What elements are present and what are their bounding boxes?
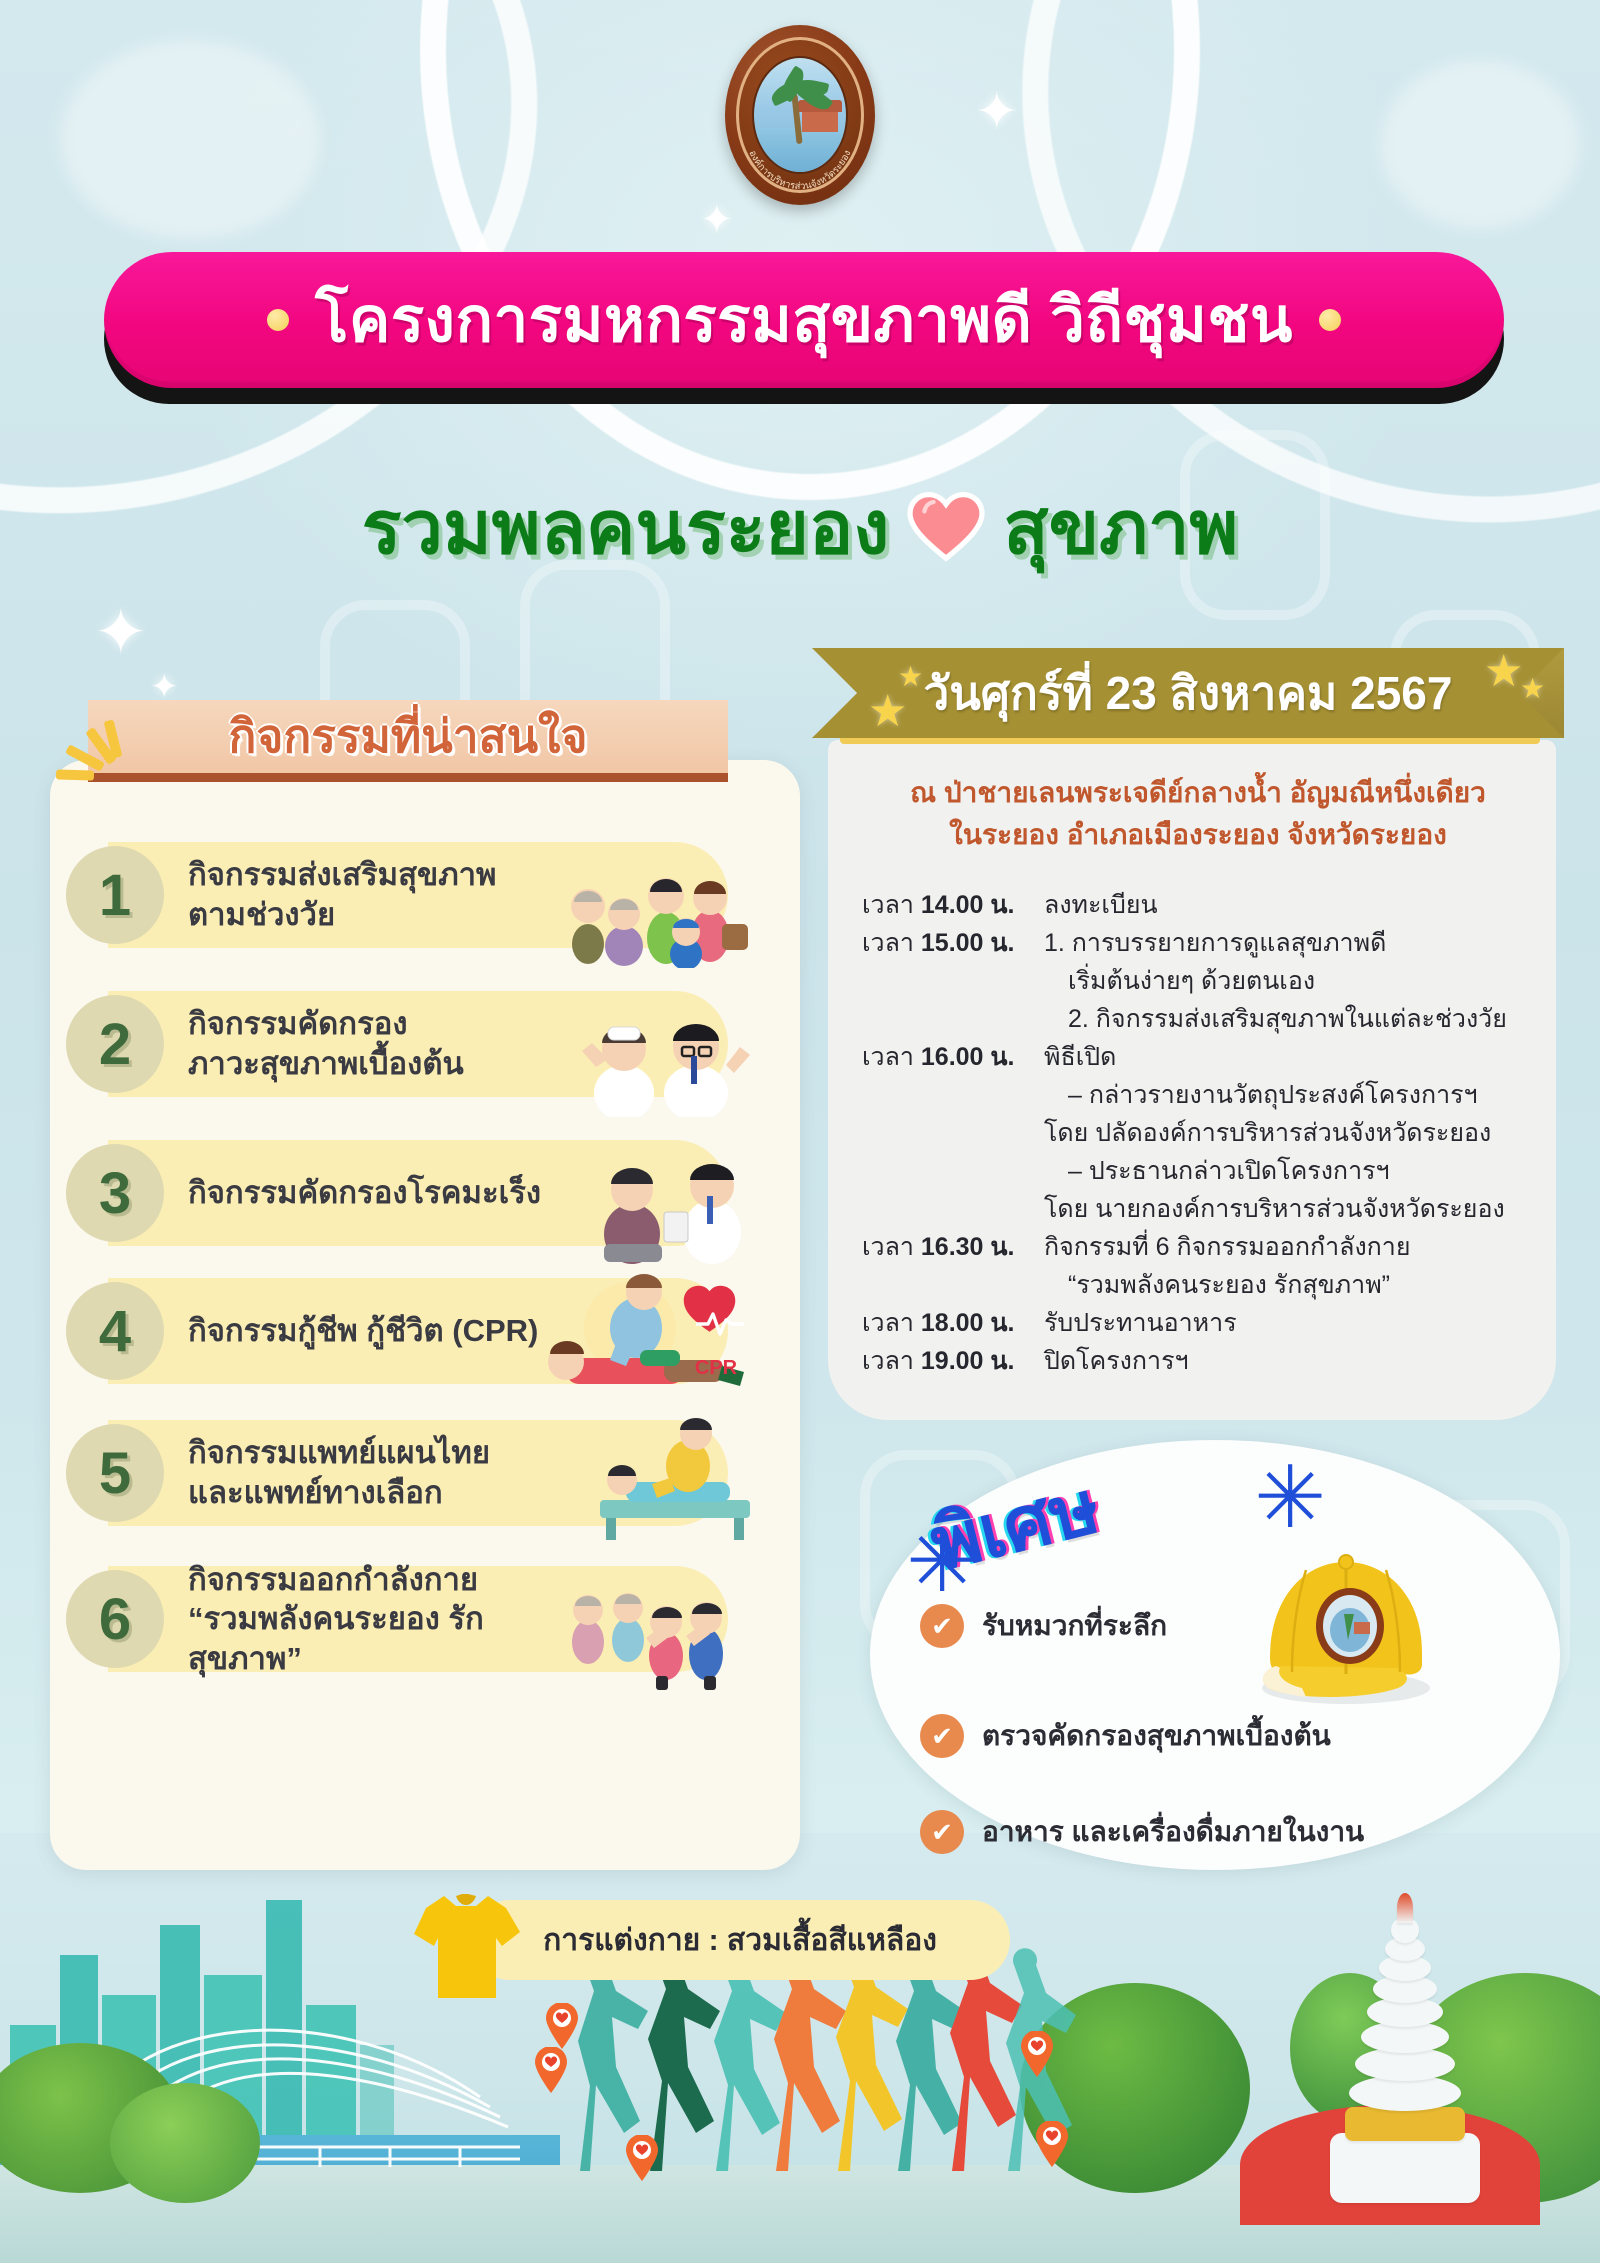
family-exercise-illustration — [544, 1542, 774, 1692]
thai-massage-illustration — [544, 1396, 774, 1546]
seal-outer-ring: องค์การบริหารส่วนจังหวัดระยอง — [725, 25, 875, 205]
six-point-star-icon: ✳ — [1254, 1448, 1326, 1548]
star-icon: ★ — [868, 686, 907, 737]
schedule-description: พิธีเปิด — [1044, 1038, 1562, 1076]
subtitle-left: รวมพลคนระยอง — [362, 468, 890, 586]
activity-label: กิจกรรมกู้ชีพ กู้ชีวิต (CPR) — [188, 1311, 538, 1351]
schedule-row: เวลา 15.00 น.1. การบรรยายการดูแลสุขภาพดี — [862, 924, 1562, 962]
subtitle-right: สุขภาพ — [1003, 468, 1238, 586]
map-pin-heart-icon — [1020, 2031, 1054, 2077]
activity-label: กิจกรรมแพทย์แผนไทยและแพทย์ทางเลือก — [188, 1433, 490, 1512]
tree — [110, 2083, 260, 2203]
activity-number-badge: 5 — [66, 1424, 164, 1522]
bg-blob-2 — [1380, 60, 1580, 230]
schedule-block: เวลา 14.00 น.ลงทะเบียนเวลา 15.00 น.1. กา… — [862, 886, 1562, 1380]
schedule-description: รับประทานอาหาร — [1044, 1304, 1562, 1342]
benefit-label: รับหมวกที่ระลึก — [982, 1604, 1167, 1648]
burst-icon — [56, 716, 146, 806]
family-group-illustration — [544, 818, 774, 968]
date-ribbon: วันศุกร์ที่ 23 สิงหาคม 2567 — [812, 648, 1564, 738]
event-date: วันศุกร์ที่ 23 สิงหาคม 2567 — [924, 657, 1453, 730]
subtitle-row: รวมพลคนระยอง สุขภาพ — [0, 468, 1600, 586]
star-icon: ★ — [898, 660, 923, 693]
star-icon: ★ — [1520, 672, 1545, 705]
check-icon: ✔ — [920, 1810, 964, 1854]
schedule-description: 1. การบรรยายการดูแลสุขภาพดี — [1044, 924, 1562, 962]
activity-label: กิจกรรมส่งเสริมสุขภาพตามช่วงวัย — [188, 855, 497, 934]
schedule-time: เวลา 14.00 น. — [862, 886, 1044, 924]
schedule-detail-line: เริ่มต้นง่ายๆ ด้วยตนเอง — [1068, 962, 1562, 1000]
check-icon: ✔ — [920, 1714, 964, 1758]
activity-item-2: 2กิจกรรมคัดกรองภาวะสุขภาพเบื้องต้น — [66, 985, 766, 1103]
bottom-illustration — [0, 1833, 1600, 2263]
heart-icon — [907, 491, 985, 563]
activity-label: กิจกรรมคัดกรองโรคมะเร็ง — [188, 1173, 541, 1213]
activity-item-5: 5กิจกรรมแพทย์แผนไทยและแพทย์ทางเลือก — [66, 1414, 766, 1532]
map-pin-heart-icon — [625, 2135, 659, 2181]
schedule-detail-line: 2. กิจกรรมส่งเสริมสุขภาพในแต่ละช่วงวัย — [1068, 1000, 1562, 1038]
map-pin-heart-icon — [545, 2003, 579, 2049]
activity-number-badge: 1 — [66, 846, 164, 944]
schedule-row: เวลา 18.00 น.รับประทานอาหาร — [862, 1304, 1562, 1342]
benefit-item: ✔อาหาร และเครื่องดื่มภายในงาน — [920, 1810, 1364, 1854]
title-dot-left — [267, 309, 289, 331]
organization-logo: องค์การบริหารส่วนจังหวัดระยอง — [722, 22, 878, 208]
svg-text:CPR: CPR — [695, 1357, 738, 1379]
benefit-item: ✔ตรวจคัดกรองสุขภาพเบื้องต้น — [920, 1714, 1331, 1758]
doctor-patient-consult-illustration — [544, 1116, 774, 1266]
main-title-banner: โครงการมหกรรมสุขภาพดี วิถีชุมชน — [104, 252, 1504, 388]
star-icon: ★ — [1484, 646, 1523, 697]
activity-item-6: 6กิจกรรมออกกำลังกาย“รวมพลังคนระยอง รักสุ… — [66, 1560, 766, 1678]
activity-number-badge: 4 — [66, 1282, 164, 1380]
map-pin-heart-icon — [1035, 2121, 1069, 2167]
pagoda-illustration — [1330, 1883, 1480, 2203]
yellow-tshirt-icon — [406, 1888, 526, 2006]
schedule-detail-line: – ประธานกล่าวเปิดโครงการฯ — [1068, 1152, 1562, 1190]
schedule-time: เวลา 15.00 น. — [862, 924, 1044, 962]
activity-item-4: 4กิจกรรมกู้ชีพ กู้ชีวิต (CPR) CPR — [66, 1272, 766, 1390]
activity-number-badge: 3 — [66, 1144, 164, 1242]
schedule-description: ปิดโครงการฯ — [1044, 1342, 1562, 1380]
sparkle-2: ✦ — [150, 670, 179, 704]
activities-header-label: กิจกรรมที่น่าสนใจ — [229, 700, 588, 773]
venue-line: ณ ป่าชายเลนพระเจดีย์กลางน้ำ อัญมณีหนึ่งเ… — [848, 772, 1548, 814]
schedule-time: เวลา 16.30 น. — [862, 1228, 1044, 1266]
schedule-time: เวลา 18.00 น. — [862, 1304, 1044, 1342]
map-pin-heart-icon — [534, 2047, 568, 2093]
seal-bottom-text: องค์การบริหารส่วนจังหวัดระยอง — [747, 149, 854, 192]
schedule-description: ลงทะเบียน — [1044, 886, 1562, 924]
bg-blob-1 — [60, 40, 320, 240]
schedule-detail-line: “รวมพลังคนระยอง รักสุขภาพ” — [1068, 1266, 1562, 1304]
schedule-detail-line: โดย ปลัดองค์การบริหารส่วนจังหวัดระยอง — [1044, 1114, 1562, 1152]
yellow-cap-souvenir-icon — [1246, 1540, 1446, 1720]
sparkle-1: ✦ — [94, 600, 148, 664]
dress-code-text: การแต่งกาย : สวมเสื้อสีแหลือง — [543, 1917, 937, 1964]
activities-header-banner: กิจกรรมที่น่าสนใจ — [88, 700, 728, 782]
svg-text:องค์การบริหารส่วนจังหวัดระยอง: องค์การบริหารส่วนจังหวัดระยอง — [747, 149, 854, 192]
activity-number-badge: 2 — [66, 995, 164, 1093]
schedule-row: เวลา 16.30 น.กิจกรรมที่ 6 กิจกรรมออกกำลั… — [862, 1228, 1562, 1266]
six-point-star-icon: ✳ — [906, 1512, 978, 1612]
poster-canvas: ✦ ✦ ✦ ✦ ✦ องค์การบริหารส่วนจังหวัดระ — [0, 0, 1600, 2263]
schedule-time: เวลา 16.00 น. — [862, 1038, 1044, 1076]
schedule-detail-line: โดย นายกองค์การบริหารส่วนจังหวัดระยอง — [1044, 1190, 1562, 1228]
activity-item-1: 1กิจกรรมส่งเสริมสุขภาพตามช่วงวัย — [66, 836, 766, 954]
activity-item-3: 3กิจกรรมคัดกรองโรคมะเร็ง — [66, 1134, 766, 1252]
seal-circular-text: องค์การบริหารส่วนจังหวัดระยอง — [725, 25, 875, 205]
venue-block: ณ ป่าชายเลนพระเจดีย์กลางน้ำ อัญมณีหนึ่งเ… — [848, 772, 1548, 856]
benefit-label: ตรวจคัดกรองสุขภาพเบื้องต้น — [982, 1714, 1331, 1758]
title-dot-right — [1319, 309, 1341, 331]
schedule-row: เวลา 19.00 น.ปิดโครงการฯ — [862, 1342, 1562, 1380]
benefit-label: อาหาร และเครื่องดื่มภายในงาน — [982, 1810, 1364, 1854]
activity-number-badge: 6 — [66, 1570, 164, 1668]
activity-label: กิจกรรมคัดกรองภาวะสุขภาพเบื้องต้น — [188, 1004, 464, 1083]
activity-label: กิจกรรมออกกำลังกาย“รวมพลังคนระยอง รักสุข… — [188, 1560, 588, 1679]
dress-code-banner: การแต่งกาย : สวมเสื้อสีแหลือง — [470, 1900, 1010, 1980]
schedule-detail-line: – กล่าวรายงานวัตถุประสงค์โครงการฯ — [1068, 1076, 1562, 1114]
schedule-time: เวลา 19.00 น. — [862, 1342, 1044, 1380]
page-title: โครงการมหกรรมสุขภาพดี วิถีชุมชน — [315, 271, 1293, 369]
schedule-description: กิจกรรมที่ 6 กิจกรรมออกกำลังกาย — [1044, 1228, 1562, 1266]
sparkle-4: ✦ — [975, 86, 1019, 138]
schedule-row: เวลา 16.00 น.พิธีเปิด — [862, 1038, 1562, 1076]
nurse-and-doctor-illustration — [544, 967, 774, 1117]
cpr-illustration: CPR — [544, 1254, 774, 1404]
venue-line: ในระยอง อำเภอเมืองระยอง จังหวัดระยอง — [848, 814, 1548, 856]
schedule-row: เวลา 14.00 น.ลงทะเบียน — [862, 886, 1562, 924]
